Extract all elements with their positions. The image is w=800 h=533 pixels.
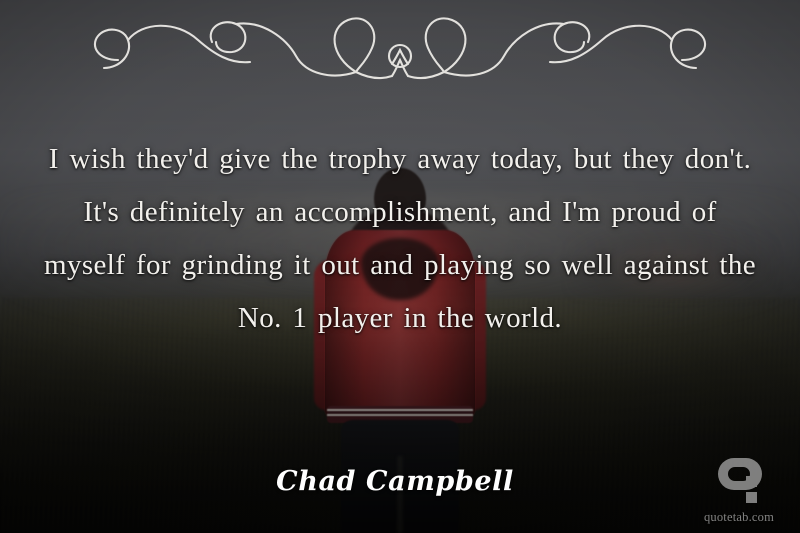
watermark-site-label: quotetab.com [691,510,787,525]
card-content: I wish they'd give the trophy away today… [0,0,800,533]
quote-image-card: I wish they'd give the trophy away today… [0,0,800,533]
flourish-ornament-icon [80,12,720,90]
watermark[interactable]: quotetab.com [691,454,787,525]
quote-author: Chad Campbell [0,466,790,497]
quotetab-q-logo-icon [712,454,766,508]
quote-text: I wish they'd give the trophy away today… [38,133,762,345]
